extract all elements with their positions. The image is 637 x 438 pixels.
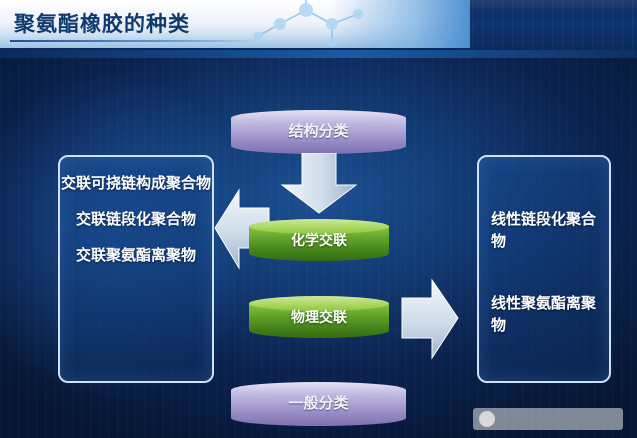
left-box-line: 交联链段化聚合物 xyxy=(60,209,212,231)
node-label: 一般分类 xyxy=(231,392,406,413)
header-bottom-strip xyxy=(0,50,637,58)
node-physical-crosslink[interactable]: 物理交联 xyxy=(249,296,389,338)
node-structure-classification[interactable]: 结构分类 xyxy=(231,110,406,154)
right-box-content: 线性链段化聚合物 线性聚氨酯离聚物 xyxy=(479,209,609,377)
title-underline xyxy=(10,40,260,42)
arrow-down-icon xyxy=(276,153,362,215)
node-label: 结构分类 xyxy=(231,120,406,141)
slide-header: 聚氨酯橡胶的种类 xyxy=(0,0,637,58)
molecule-icon xyxy=(240,0,390,50)
left-box-line: 交联聚氨酯离聚物 xyxy=(60,245,212,267)
watermark-logo-icon xyxy=(479,411,495,427)
arrow-right-icon xyxy=(398,276,460,362)
right-category-box[interactable]: 线性链段化聚合物 线性聚氨酯离聚物 xyxy=(477,155,611,383)
left-box-line: 交联可挠链构成聚合物 xyxy=(60,173,212,195)
slide-canvas: 聚氨酯橡胶的种类 结构分类 xyxy=(0,0,637,438)
node-general-classification[interactable]: 一般分类 xyxy=(231,382,406,426)
page-title: 聚氨酯橡胶的种类 xyxy=(14,8,190,38)
node-label: 化学交联 xyxy=(249,230,389,250)
left-category-box[interactable]: 交联可挠链构成聚合物 交联链段化聚合物 交联聚氨酯离聚物 xyxy=(58,155,214,383)
right-box-line: 线性链段化聚合物 xyxy=(479,209,609,253)
node-chemical-crosslink[interactable]: 化学交联 xyxy=(249,219,389,261)
watermark xyxy=(473,408,623,430)
right-box-line: 线性聚氨酯离聚物 xyxy=(479,293,609,337)
node-label: 物理交联 xyxy=(249,307,389,327)
left-box-content: 交联可挠链构成聚合物 交联链段化聚合物 交联聚氨酯离聚物 xyxy=(60,173,212,281)
